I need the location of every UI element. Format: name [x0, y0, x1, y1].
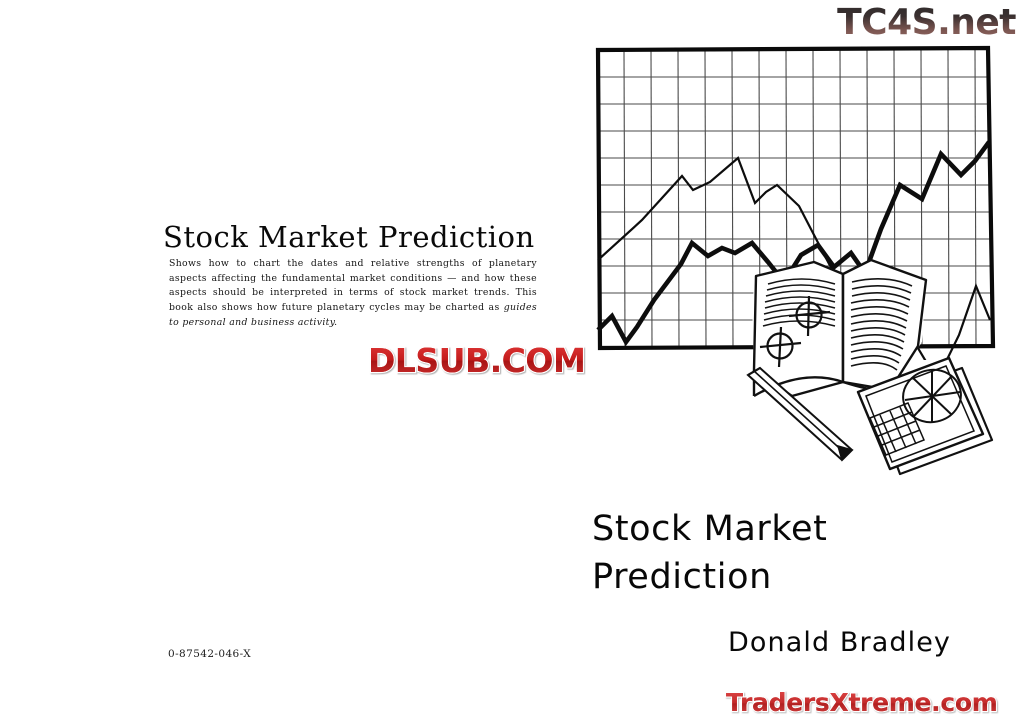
front-cover-author: Donald Bradley: [728, 627, 951, 658]
back-cover-title: Stock Market Prediction: [163, 220, 535, 254]
front-cover-title-line-2: Prediction: [592, 553, 1012, 601]
front-cover-panel: Stock Market Prediction Donald Bradley: [560, 0, 1024, 724]
isbn-number: 0-87542-046-X: [168, 648, 251, 660]
back-cover-blurb-text: Shows how to chart the dates and relativ…: [169, 258, 537, 313]
watermark-tradersxtreme: TradersXtreme.com: [726, 688, 998, 717]
front-cover-title-line-1: Stock Market: [592, 505, 1012, 553]
desk-illustration: [740, 250, 1000, 490]
watermark-dlsub: DLSUB.COM: [368, 341, 585, 380]
back-cover-blurb: Shows how to chart the dates and relativ…: [169, 257, 537, 330]
watermark-tc4s: TC4S.net: [837, 2, 1016, 43]
front-cover-title: Stock Market Prediction: [592, 505, 1012, 601]
book-cover-canvas: Stock Market Prediction Shows how to cha…: [0, 0, 1024, 724]
